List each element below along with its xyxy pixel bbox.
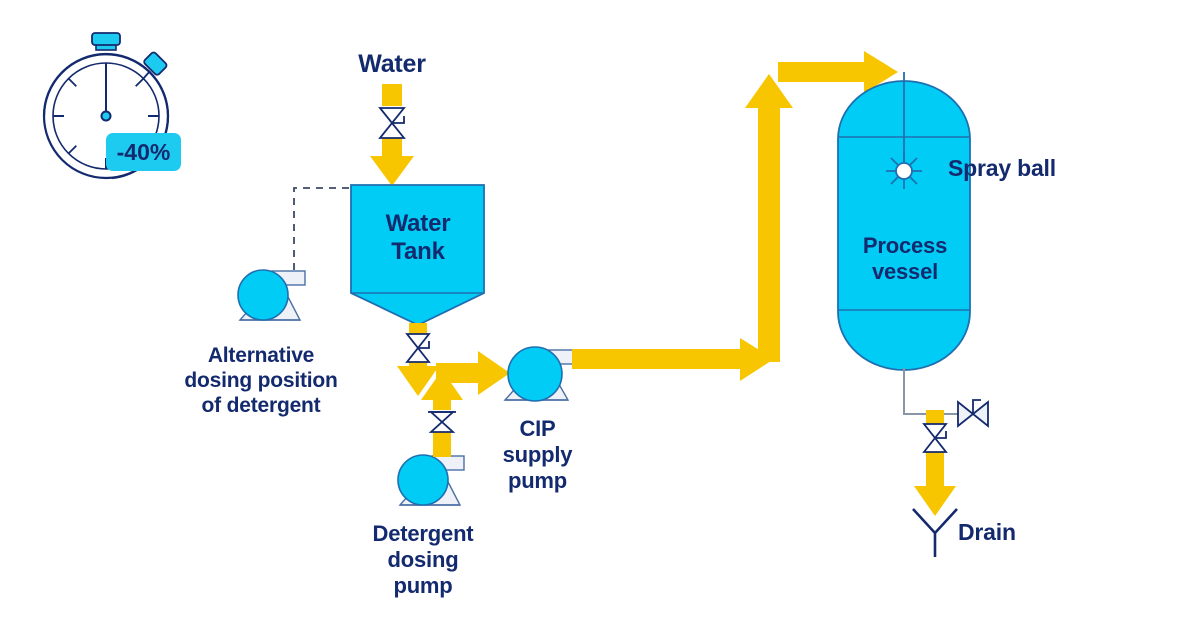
diagram-canvas: -40% Water Water Tank Alternative dosing…	[0, 0, 1200, 630]
water-tank-label-line1: Water	[358, 210, 478, 238]
vessel-drain-pipe	[904, 368, 988, 426]
water-tank-label: Water Tank	[358, 210, 478, 267]
cip-supply-pump-label-line3: pump	[470, 468, 605, 494]
alternative-dosing-label-line1: Alternative	[156, 344, 366, 369]
detergent-dosing-pump[interactable]	[398, 455, 464, 505]
alternative-dosing-pump[interactable]	[238, 270, 305, 320]
alternative-dosing-label-line2: dosing position	[156, 369, 366, 394]
drain-valve-icon	[924, 424, 946, 452]
alternative-dosing-label: Alternative dosing position of detergent	[156, 344, 366, 418]
water-inlet-valve-icon	[380, 108, 404, 138]
water-tank-label-line2: Tank	[358, 238, 478, 266]
spray-ball-label-text: Spray ball	[948, 155, 1056, 181]
cip-supply-line-arrow	[572, 338, 774, 381]
time-saving-badge: -40%	[106, 133, 181, 171]
water-inlet-label-text: Water	[358, 50, 426, 78]
process-vessel-label-line1: Process	[826, 233, 984, 259]
alt-dosing-dashed-connector	[294, 188, 350, 283]
detergent-dosing-pump-label-line2: dosing	[333, 547, 513, 573]
alternative-dosing-label-line3: of detergent	[156, 394, 366, 419]
process-vessel-label: Process vessel	[826, 233, 984, 285]
spray-ball-icon	[886, 153, 922, 189]
time-saving-badge-value: -40%	[117, 139, 171, 166]
detergent-dosing-pump-label-line1: Detergent	[333, 521, 513, 547]
water-inlet-label: Water	[332, 50, 452, 80]
process-vessel-label-line2: vessel	[826, 259, 984, 285]
cip-supply-pump-label: CIP supply pump	[470, 416, 605, 494]
detergent-dosing-pump-label-line3: pump	[333, 573, 513, 599]
process-vessel[interactable]	[838, 72, 970, 370]
detergent-dosing-pump-label: Detergent dosing pump	[333, 521, 513, 599]
drain-shutoff-valve-icon	[958, 400, 988, 426]
cip-supply-pump-label-line1: CIP	[470, 416, 605, 442]
drain-label-text: Drain	[958, 519, 1016, 545]
cip-supply-pump-label-line2: supply	[470, 442, 605, 468]
cip-supply-pump[interactable]	[505, 347, 578, 401]
drain-label: Drain	[958, 519, 1068, 546]
tank-outlet-valve-icon	[407, 334, 429, 362]
detergent-valve-icon	[428, 412, 456, 432]
drain-icon	[913, 509, 957, 557]
riser-up-arrow	[745, 74, 793, 362]
spray-ball-label: Spray ball	[948, 155, 1108, 182]
